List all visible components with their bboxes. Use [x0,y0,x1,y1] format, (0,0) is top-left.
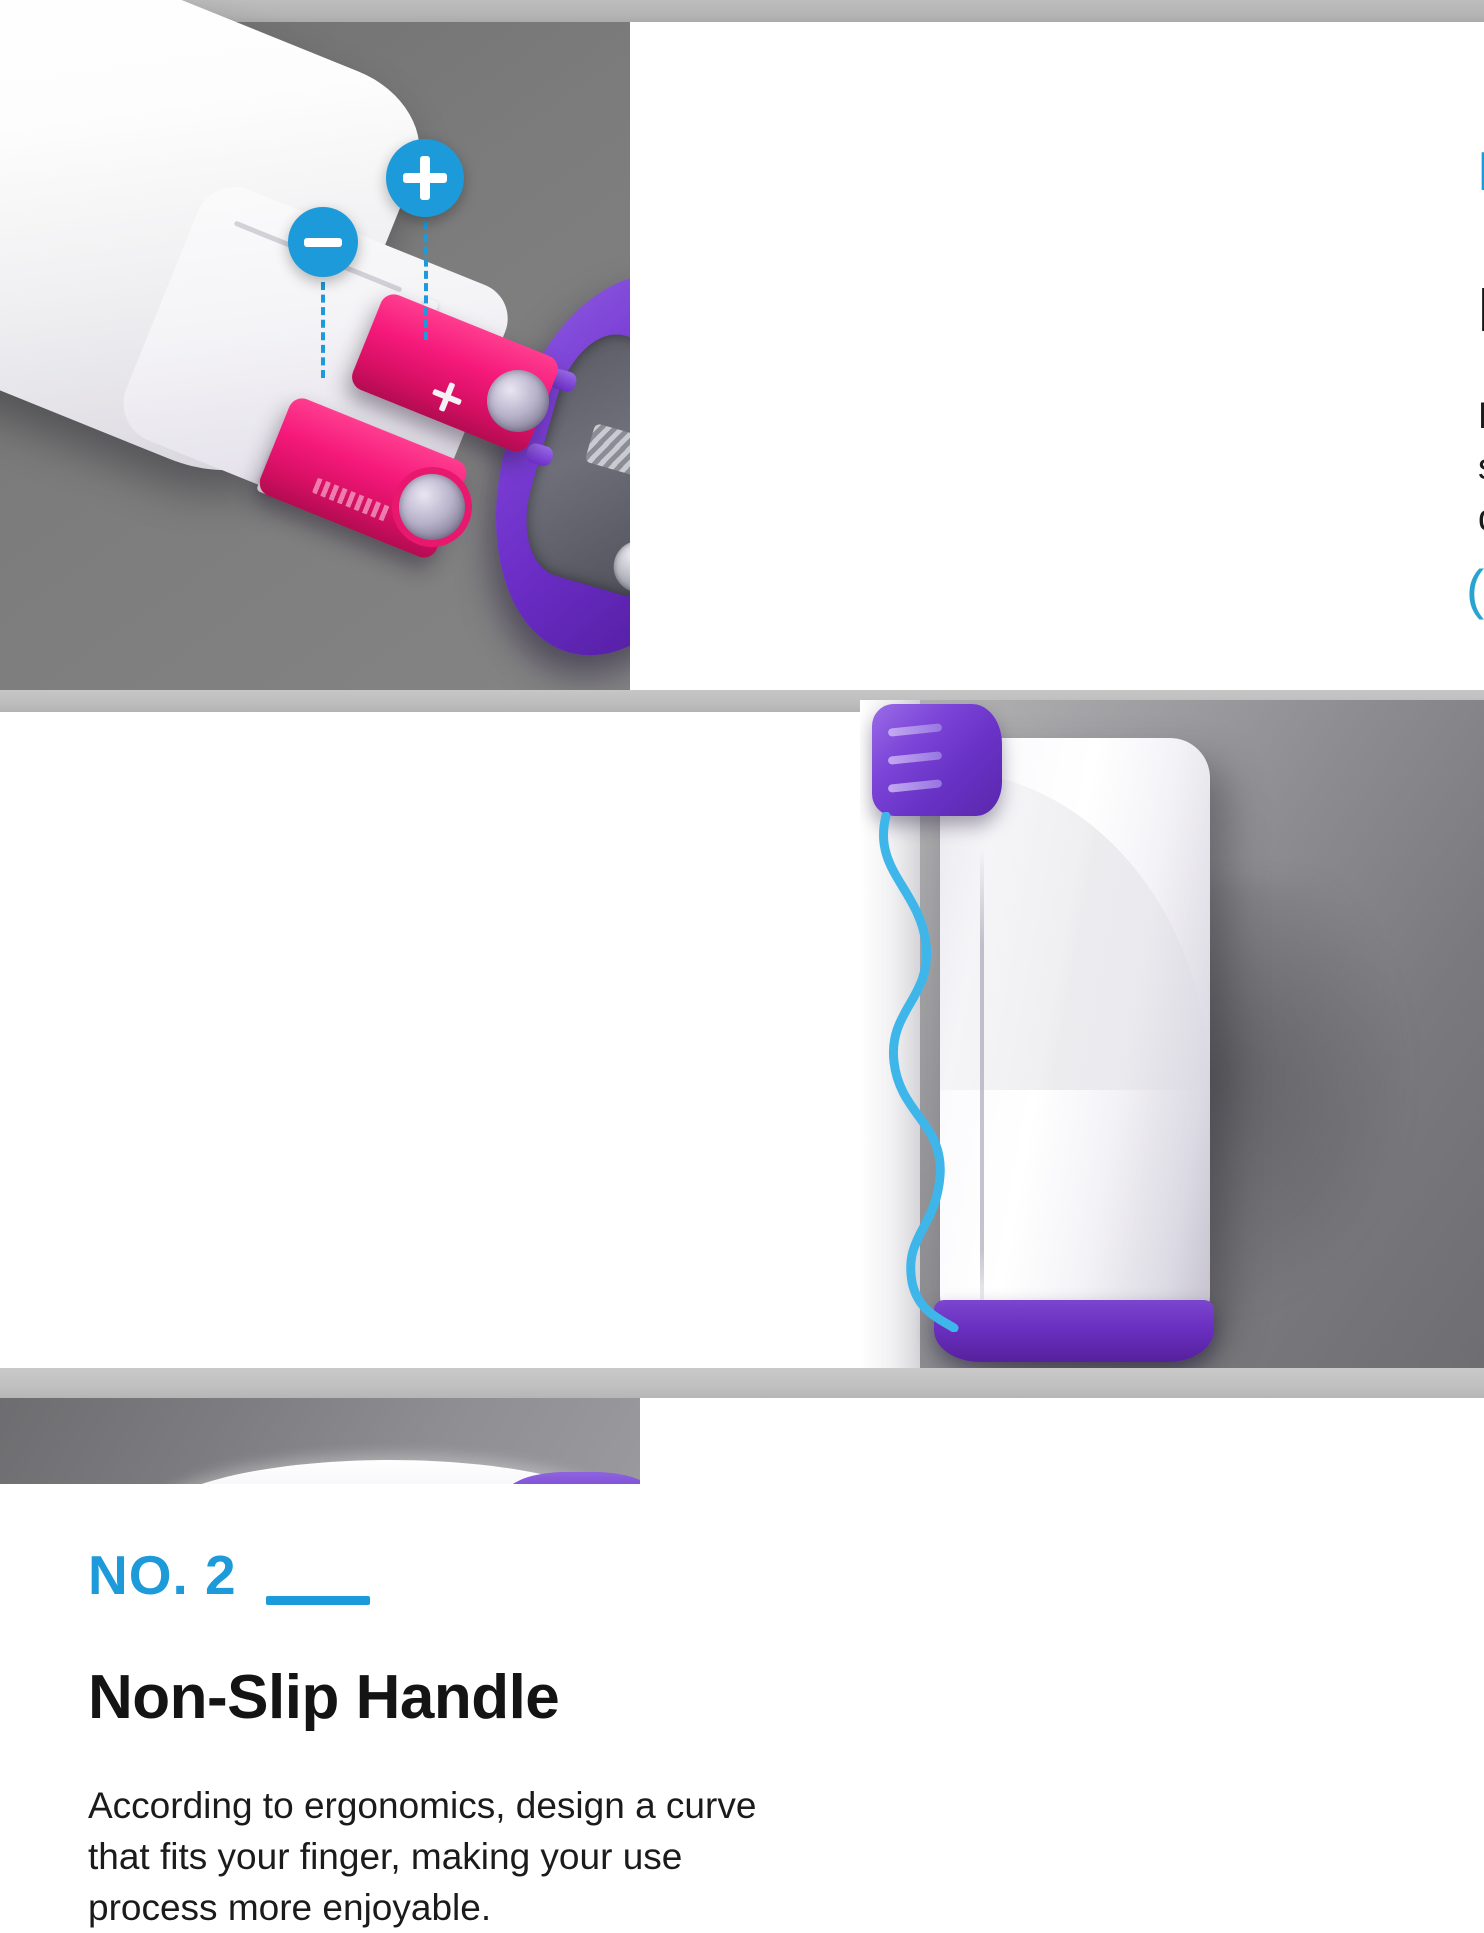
purple-trigger-grip [872,704,1002,816]
negative-leader-line [321,282,325,378]
section-2-number: NO. 2 [88,1548,237,1603]
non-slip-handle-photo [860,700,1484,1368]
positive-leader-line [424,222,428,340]
trigger-rib-2 [888,751,943,765]
section-1-note: (Battery not Included) [1466,562,1484,617]
battery-installation-text: NO. 1 Battery Installation Put two No. 7… [630,22,1484,690]
section-1-number: NO. 1 [1478,144,1484,199]
trigger-rib-3 [888,779,943,793]
section-2-title: Non-Slip Handle [88,1667,559,1729]
trigger-rib-1 [888,723,943,737]
battery-rear-cap [487,370,549,432]
section-non-slip-handle: NO. 2 Non-Slip Handle According to ergon… [0,712,1484,1368]
ergonomic-curve-line [868,812,988,1332]
next-section-photo [0,1398,640,1484]
section-battery-installation: NO. 1 Battery Installation Put two No. 7… [0,22,1484,690]
infographic-page: NO. 1 Battery Installation Put two No. 7… [0,0,1484,1484]
section-1-body: Put two No. 7 batteries as shown in the … [1478,390,1484,543]
minus-icon [288,207,358,277]
section-2-body: According to ergonomics, design a curve … [88,1780,778,1933]
battery-front-cap [399,474,465,540]
section-divider-2 [0,1368,1484,1398]
non-slip-handle-text [0,712,860,1368]
section-next-partial [0,1398,1484,1484]
plus-icon [386,139,464,217]
section-2-number-underline [266,1596,370,1605]
section-1-title: Battery Installation [1478,280,1484,342]
battery-installation-photo [0,22,630,690]
